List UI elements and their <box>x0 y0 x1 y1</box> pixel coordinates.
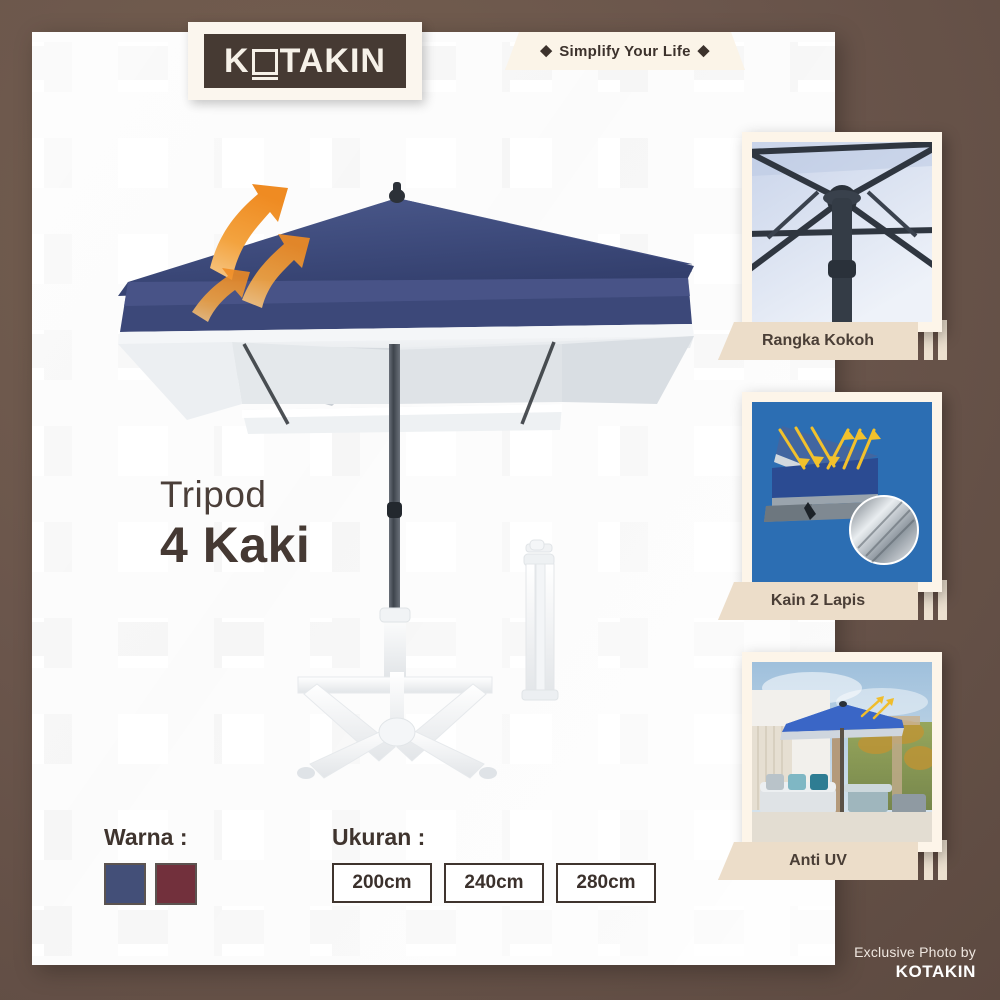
size-option-240cm[interactable]: 240cm <box>444 863 544 903</box>
product-card: Tripod 4 Kaki Warna : Ukuran : 200cm 240… <box>32 32 835 965</box>
feature-thumbnail-kain-2-lapis[interactable] <box>742 392 942 592</box>
footer-line-2: KOTAKIN <box>854 962 976 982</box>
color-swatch-list <box>104 863 197 905</box>
headline-block: Tripod 4 Kaki <box>160 476 310 575</box>
tagline-ribbon: ◆Simplify Your Life◆ <box>505 32 745 70</box>
size-option-list: 200cm 240cm 280cm <box>332 863 656 903</box>
size-option-200cm[interactable]: 200cm <box>332 863 432 903</box>
color-spec: Warna : <box>104 824 197 905</box>
feature-caption-anti-uv: Anti UV <box>718 842 918 880</box>
color-swatch-navy-blue[interactable] <box>104 863 146 905</box>
feature-caption-rangka-kokoh: Rangka Kokoh <box>718 322 918 360</box>
size-spec: Ukuran : 200cm 240cm 280cm <box>332 824 656 903</box>
size-option-280cm[interactable]: 280cm <box>556 863 656 903</box>
footer-line-1: Exclusive Photo by <box>854 944 976 960</box>
umbrella-frame-underside-photo <box>752 142 932 322</box>
feature-caption-kain-2-lapis: Kain 2 Lapis <box>718 582 918 620</box>
color-label: Warna : <box>104 824 197 851</box>
diamond-left-icon: ◆ <box>540 42 552 59</box>
diamond-right-icon: ◆ <box>698 42 710 59</box>
feature-thumbnail-anti-uv[interactable] <box>742 652 942 852</box>
tagline-text: Simplify Your Life <box>559 43 691 60</box>
footer-watermark: Exclusive Photo by KOTAKIN <box>854 944 976 982</box>
logo-inner-panel: K TAKIN <box>204 34 406 88</box>
logo-wordmark: K TAKIN <box>224 42 386 81</box>
poster-root: Tripod 4 Kaki Warna : Ukuran : 200cm 240… <box>0 0 1000 1000</box>
box-glyph-icon <box>252 49 278 75</box>
headline-big: 4 Kaki <box>160 517 310 575</box>
size-label: Ukuran : <box>332 824 656 851</box>
logo-text-after: TAKIN <box>280 42 386 81</box>
logo-text-before: K <box>224 42 250 81</box>
color-swatch-maroon[interactable] <box>155 863 197 905</box>
brand-logo: K TAKIN <box>188 22 422 100</box>
two-layer-fabric-diagram <box>752 402 932 582</box>
headline-small: Tripod <box>160 476 310 513</box>
patio-umbrella-lifestyle-photo <box>752 662 932 842</box>
caption-text: Rangka Kokoh <box>762 332 874 350</box>
tagline-row: ◆Simplify Your Life◆ <box>533 42 716 60</box>
caption-text: Anti UV <box>789 852 847 870</box>
feature-thumbnail-rangka-kokoh[interactable] <box>742 132 942 332</box>
caption-text: Kain 2 Lapis <box>771 592 865 610</box>
